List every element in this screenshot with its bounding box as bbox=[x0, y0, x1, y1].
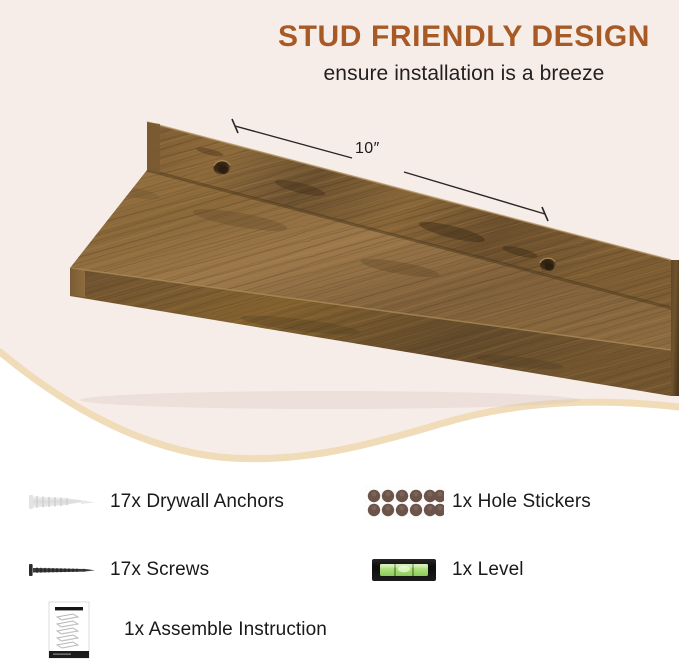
hole-stickers-icon bbox=[356, 476, 452, 528]
page-subtitle: ensure installation is a breeze bbox=[258, 62, 670, 86]
accessories-list: 17x Drywall Anchors bbox=[0, 468, 679, 668]
list-item: 1x Assemble Instruction bbox=[14, 604, 327, 656]
screw-icon bbox=[14, 544, 110, 596]
accessory-label: 1x Assemble Instruction bbox=[124, 619, 327, 641]
accessory-label: 1x Hole Stickers bbox=[452, 491, 591, 513]
list-item: 17x Screws bbox=[14, 544, 209, 596]
list-item: 1x Hole Stickers bbox=[356, 476, 591, 528]
headline-block: STUD FRIENDLY DESIGN ensure installation… bbox=[258, 20, 670, 86]
instruction-booklet-icon bbox=[14, 604, 124, 656]
accessory-label: 1x Level bbox=[452, 559, 524, 581]
list-item: 17x Drywall Anchors bbox=[14, 476, 284, 528]
dimension-annotation bbox=[0, 100, 679, 410]
list-item: 1x Level bbox=[356, 544, 524, 596]
product-infographic: STUD FRIENDLY DESIGN ensure installation… bbox=[0, 0, 679, 668]
bubble-level-icon bbox=[356, 544, 452, 596]
accessory-label: 17x Drywall Anchors bbox=[110, 491, 284, 513]
drywall-anchor-icon bbox=[14, 476, 110, 528]
dimension-label: 10″ bbox=[355, 140, 380, 158]
accessory-label: 17x Screws bbox=[110, 559, 209, 581]
page-title: STUD FRIENDLY DESIGN bbox=[258, 20, 670, 54]
